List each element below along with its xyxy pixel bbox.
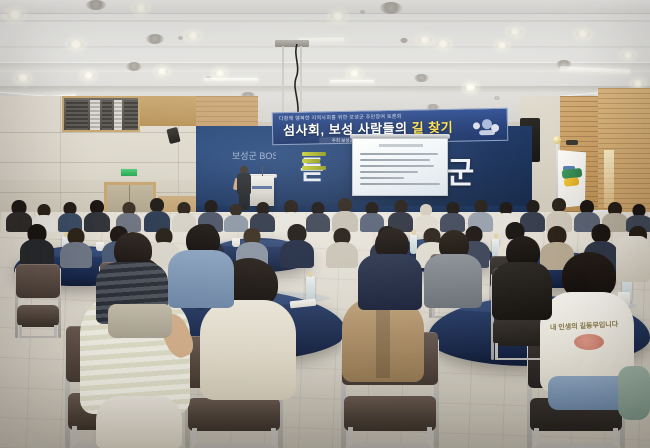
podium-accent-stripe	[252, 186, 272, 189]
downlight	[632, 80, 644, 87]
flag-finial	[553, 136, 561, 144]
flag-emblem	[562, 166, 582, 188]
downlight	[464, 84, 477, 91]
downlight	[82, 72, 95, 79]
jacket-seam	[376, 306, 390, 378]
downlight	[414, 74, 429, 82]
audience-person-dark-top	[492, 236, 552, 318]
ceiling-strip-light	[204, 78, 258, 81]
downlight	[6, 10, 24, 20]
trousers	[108, 304, 172, 338]
torso	[492, 262, 552, 320]
downlight	[330, 12, 346, 21]
folding-chair[interactable]	[16, 264, 60, 338]
louvered-window	[62, 96, 140, 132]
trousers	[96, 396, 182, 448]
downlight	[134, 4, 148, 12]
downlight	[508, 28, 522, 36]
podium-microphone	[262, 166, 263, 176]
downlight	[418, 36, 432, 44]
ceiling-seam-1	[0, 20, 650, 22]
screen-bullet-line	[360, 171, 418, 173]
audience-person-blue-shirt	[168, 224, 234, 306]
ceiling-seam-2	[0, 46, 650, 48]
downlight	[360, 10, 365, 14]
torso	[200, 300, 296, 400]
projection-screen	[352, 138, 448, 196]
backdrop-accent-mark	[302, 152, 326, 172]
conference-hall-photo: 보성군 BOSEONG 듣 성군 다함께 행복한 지역사회를 위한 보성군 주민…	[0, 0, 650, 448]
downlight	[380, 2, 402, 14]
screen-bullet-line	[360, 183, 440, 185]
downlight	[16, 74, 30, 82]
audience-person-gray-top	[424, 230, 482, 306]
ceiling-recess-mid	[0, 62, 650, 72]
audience-person-navy-top	[358, 228, 422, 308]
banner-decoration-icon	[473, 119, 503, 138]
audience-person	[146, 198, 168, 232]
bag	[618, 366, 650, 420]
downlight	[126, 62, 142, 71]
ceiling-edge-line	[0, 86, 650, 92]
downlight	[86, 0, 106, 10]
screen-bullet-line	[360, 177, 404, 179]
jeans	[548, 376, 628, 410]
torso	[358, 254, 422, 310]
downlight	[494, 96, 500, 100]
screen-bullet-line	[360, 165, 434, 167]
downlight	[622, 52, 634, 59]
downlight	[186, 32, 200, 40]
downlight	[348, 70, 361, 77]
screen-bullet-line	[360, 159, 430, 161]
wall-accent-light	[604, 150, 614, 208]
downlight	[178, 36, 183, 40]
downlight	[436, 40, 450, 48]
downlight	[496, 42, 508, 49]
downlight	[68, 40, 84, 49]
ceiling-strip-light	[330, 80, 374, 83]
torso	[424, 254, 482, 308]
backdrop-logo-text: 보성군 BOSEONG	[232, 148, 276, 164]
downlight	[146, 34, 164, 44]
audience-person	[334, 198, 356, 232]
exit-sign	[120, 168, 138, 177]
audience-person	[22, 224, 52, 266]
torso	[168, 250, 234, 308]
downlight	[214, 70, 226, 77]
tshirt-print-graphic	[574, 334, 604, 350]
wall-bracket-light	[566, 140, 578, 145]
audience-person	[616, 236, 650, 282]
downlight	[156, 68, 168, 75]
downlight	[400, 38, 408, 43]
screen-bullet-line	[360, 153, 438, 155]
projector-power-cable	[292, 44, 302, 122]
downlight	[576, 30, 590, 38]
